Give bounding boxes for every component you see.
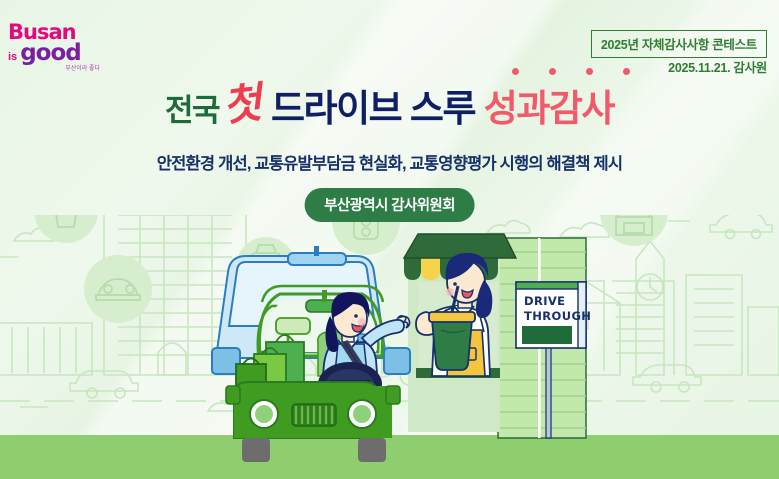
dot-4 xyxy=(623,68,630,75)
decorative-dots xyxy=(512,68,630,75)
dot-1 xyxy=(512,68,519,75)
page-title: 전국첫 드라이브 스루 성과감사 xyxy=(0,86,779,128)
drive-through-illustration: DRIVE THROUGH xyxy=(0,0,779,479)
page-subtitle: 안전환경 개선, 교통유발부담금 현실화, 교통영향평가 시행의 해결책 제시 xyxy=(0,150,779,174)
headline-part-first: 첫 xyxy=(220,82,262,128)
svg-text:THROUGH: THROUGH xyxy=(524,309,591,323)
headline-part-nationwide: 전국 xyxy=(165,93,219,128)
car xyxy=(212,246,410,462)
logo-line-is: is xyxy=(8,52,17,63)
dot-2 xyxy=(549,68,556,75)
poster-root: DRIVE THROUGH xyxy=(0,0,779,479)
dot-3 xyxy=(586,68,593,75)
logo-korean-tagline: 부산이라 좋다 xyxy=(8,66,100,72)
contest-label: 2025년 자체감사사항 콘테스트 xyxy=(591,30,767,58)
headline-part-drive-thru: 드라이브 스루 xyxy=(271,88,475,129)
headline-part-performance-audit: 성과감사 xyxy=(484,88,614,129)
busan-is-good-logo: Busan is good 부산이라 좋다 xyxy=(8,22,100,76)
contest-date: 2025.11.21. 감사원 xyxy=(668,57,767,76)
logo-line-good: good xyxy=(20,42,81,65)
organization-badge: 부산광역시 감사위원회 xyxy=(304,188,475,222)
svg-text:DRIVE: DRIVE xyxy=(524,294,565,308)
